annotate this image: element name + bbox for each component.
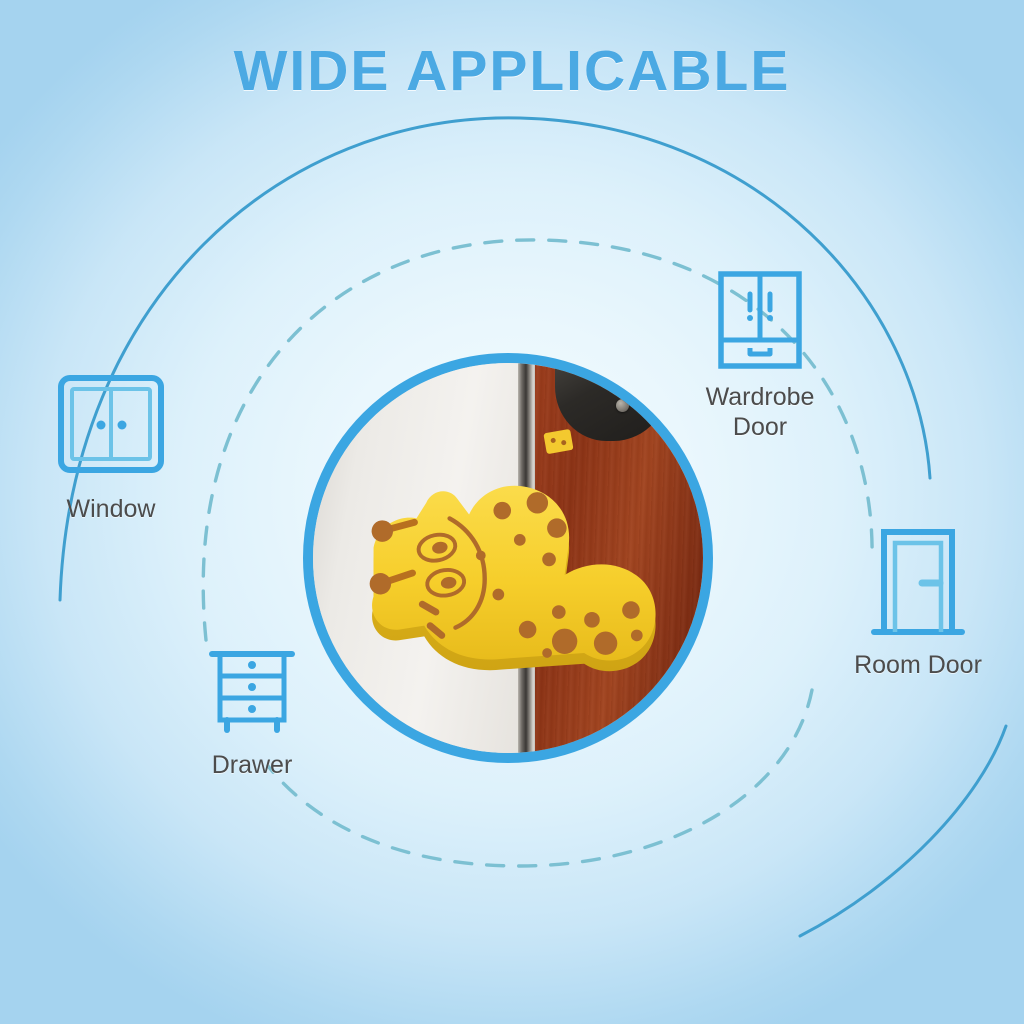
giraffe-horn-knob-upper	[371, 520, 392, 541]
giraffe-spot	[492, 588, 504, 600]
giraffe-spot	[622, 601, 640, 619]
feature-drawer[interactable]: Drawer	[163, 636, 341, 780]
feature-label: Wardrobe Door	[640, 382, 880, 442]
giraffe-spot	[594, 631, 617, 654]
giraffe-spot	[547, 518, 567, 538]
giraffe-spot	[514, 534, 526, 546]
giraffe-horn-knob-lower	[370, 573, 391, 594]
giraffe-spot	[476, 550, 486, 560]
feature-label: Drawer	[163, 750, 341, 780]
feature-room-door[interactable]: Room Door	[818, 520, 1018, 680]
feature-label: Window	[22, 494, 200, 524]
feature-wardrobe-door[interactable]: Wardrobe Door	[640, 268, 880, 442]
hinge-screw-icon	[616, 399, 629, 412]
giraffe-spot	[631, 629, 643, 641]
door-icon	[862, 520, 974, 640]
wardrobe-icon	[708, 268, 812, 372]
poster-canvas: WIDE APPLICABLE	[0, 0, 1024, 1024]
giraffe-spot	[552, 605, 566, 619]
page-title: WIDE APPLICABLE	[0, 38, 1024, 104]
giraffe-spot	[542, 552, 556, 566]
giraffe-spot	[552, 628, 577, 653]
giraffe-spot	[527, 492, 548, 513]
giraffe-door-stopper	[356, 457, 668, 683]
giraffe-spot	[519, 620, 537, 638]
giraffe-spot	[542, 648, 552, 658]
feature-label: Room Door	[818, 650, 1018, 680]
window-icon	[53, 368, 169, 484]
giraffe-spot	[584, 612, 600, 628]
feature-window[interactable]: Window	[22, 368, 200, 524]
drawer-icon	[198, 636, 306, 740]
outer-arc-solid-lower	[800, 726, 1006, 936]
giraffe-spot	[493, 501, 511, 519]
